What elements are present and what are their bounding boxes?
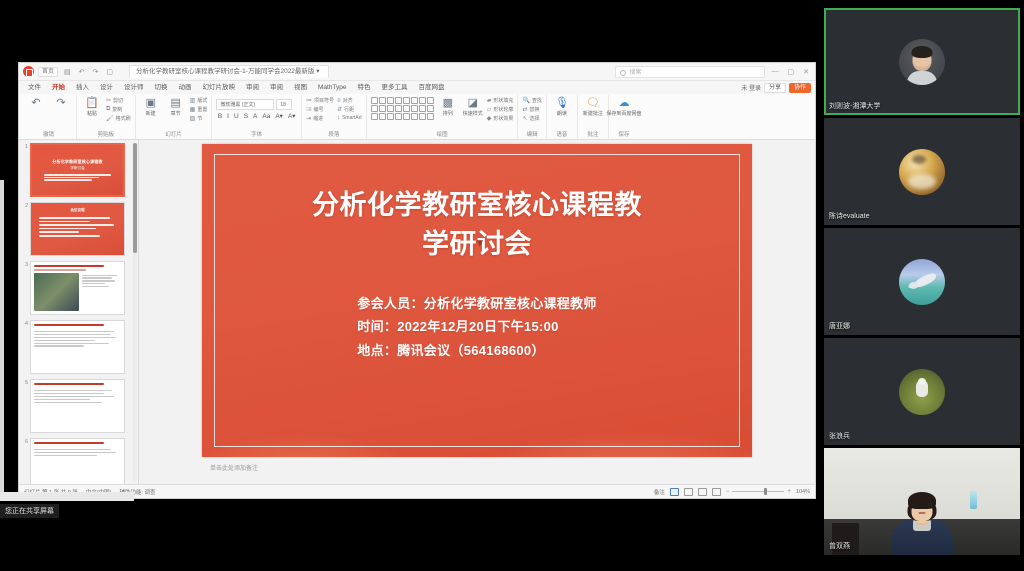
indent-button[interactable]: ⇥缩进 <box>306 115 334 122</box>
ribbon-group-voice: 🎙 朗读 语音 <box>547 95 578 139</box>
title-bar-right: 搜索 — ▢ ✕ <box>615 66 812 78</box>
undo-icon[interactable]: ↶ <box>77 68 87 76</box>
video-bottle-object <box>970 491 977 509</box>
view-slideshow-icon[interactable] <box>712 488 721 496</box>
left-window-edge <box>0 180 4 500</box>
tab-features[interactable]: 特色 <box>353 81 376 94</box>
participant-tile-4[interactable]: 张浪兵 <box>824 338 1020 445</box>
ribbon-group-slides: ▣ 新建 ▤ 章节 ▥版式 ▦重置 ▧节 幻灯片 <box>136 95 213 139</box>
new-slide-button[interactable]: ▣ 新建 <box>140 97 162 117</box>
text-shadow-button[interactable]: A <box>252 113 259 120</box>
cloud-icon: ☁ <box>618 97 629 110</box>
thumbnail-scrollbar[interactable] <box>133 143 137 481</box>
thumbnail-number: 6 <box>21 438 28 445</box>
redo-icon[interactable]: ↷ <box>91 68 101 76</box>
thumb1-title-line2: 学研讨会 <box>70 166 84 171</box>
slide-title-line1: 分析化学教研室核心课程教 <box>312 186 642 225</box>
ribbon-group-comment: 🗨 新建批注 批注 <box>578 95 609 139</box>
field-sheep-avatar <box>899 369 945 415</box>
slide-thumbnail-4[interactable] <box>30 320 125 374</box>
slides-small-buttons: ▥版式 ▦重置 ▧节 <box>190 97 208 122</box>
ribbon-group-label-editing: 编辑 <box>527 131 538 139</box>
avatar-shoulders <box>907 71 937 85</box>
tab-more-tools[interactable]: 更多工具 <box>377 81 413 94</box>
wps-logo-icon <box>23 66 34 77</box>
thumbnail-row-5[interactable]: 5 <box>21 379 136 433</box>
section-split-button[interactable]: ▧节 <box>190 115 208 122</box>
work-area: 1 分析化学教研室核心课程教 学研讨会 <box>19 140 815 484</box>
comment-icon: 🗨 <box>586 97 600 110</box>
ribbon-group-paragraph: ≔项目符号 ⁝≡编号 ⇥缩进 ≡对齐 ⇵行距 ↕SmartArt 段落 <box>302 95 367 139</box>
thumb6-header-bar <box>34 442 104 444</box>
slide-content: 分析化学教研室核心课程教 学研讨会 参会人员：分析化学教研室核心课程教师 时间：… <box>202 144 752 457</box>
participant-tile-2[interactable]: 陈诗evaluate <box>824 118 1020 225</box>
ribbon-group-label-font: 字体 <box>251 131 262 139</box>
notes-pane[interactable]: 单击此处添加备注 <box>202 457 752 477</box>
video-person <box>890 495 954 555</box>
thumbnail-scrollbar-thumb[interactable] <box>133 143 137 253</box>
share-button[interactable]: 分享 <box>764 83 786 93</box>
mouse-cursor <box>477 240 482 247</box>
thumb1-body-lines <box>44 174 110 181</box>
italic-button[interactable]: I <box>226 113 231 120</box>
slide-thumbnail-1[interactable]: 分析化学教研室核心课程教 学研讨会 <box>30 143 125 197</box>
ribbon-group-editing: 🔍查找 ⇄替换 ↖选择 编辑 <box>518 95 547 139</box>
arrange-button[interactable]: ▩排列 <box>437 97 459 117</box>
search-input[interactable]: 搜索 <box>615 66 765 78</box>
highlight-color-button[interactable]: A▾ <box>286 112 297 120</box>
format-painter-button[interactable]: 🖌格式刷 <box>106 115 131 122</box>
title-bar: 首页 ▤ ↶ ↷ ▢ 分析化学教研室核心课程教学研讨会-1-万能同学会2022最… <box>19 63 815 81</box>
editing-buttons: 🔍查找 ⇄替换 ↖选择 <box>522 97 542 122</box>
find-button[interactable]: 🔍查找 <box>522 97 542 104</box>
shape-fill-button[interactable]: ▰形状填充 <box>487 97 514 104</box>
microphone-icon: 🎙 <box>555 97 569 110</box>
copy-button[interactable]: ⧉复制 <box>106 106 131 113</box>
replace-button[interactable]: ⇄替换 <box>522 106 542 113</box>
minimize-icon[interactable]: — <box>770 68 781 75</box>
redo-button[interactable]: ↷ <box>50 97 72 110</box>
clipboard-small-buttons: ✂剪切 ⧉复制 🖌格式刷 <box>106 97 131 122</box>
thumbnail-row-6[interactable]: 6 <box>21 438 136 484</box>
account-label[interactable]: 未 登录 <box>741 83 761 92</box>
tab-transitions[interactable]: 切换 <box>150 81 173 94</box>
home-button[interactable]: 首页 <box>38 67 58 77</box>
participant-tile-1[interactable]: 刘则波-湘潭大学 <box>824 8 1020 115</box>
thumbnail-row-4[interactable]: 4 <box>21 320 136 374</box>
shape-effects-button[interactable]: ◆形状效果 <box>487 115 514 122</box>
document-tab[interactable]: 分析化学教研室核心课程教学研讨会-1-万能同学会2022最新版 ▾ <box>129 65 328 78</box>
tab-home[interactable]: 开始 <box>47 81 70 95</box>
new-tab-icon[interactable]: ▢ <box>104 68 115 76</box>
strikethrough-button[interactable]: S <box>242 113 249 120</box>
ribbon-group-label-drawing: 绘图 <box>437 131 448 139</box>
paragraph-buttons: ≔项目符号 ⁝≡编号 ⇥缩进 <box>306 97 334 122</box>
tab-slideshow[interactable]: 幻灯片放映 <box>198 81 241 94</box>
participant-name-1: 刘则波-湘潭大学 <box>829 101 880 111</box>
ribbon-tabs-right: 未 登录 分享 协作 <box>741 83 811 93</box>
underline-button[interactable]: U <box>232 113 240 120</box>
change-case-button[interactable]: Aa <box>261 113 272 120</box>
shape-outline-button[interactable]: ▱形状轮廓 <box>487 106 514 113</box>
status-bar: 幻灯片 第 1 张 共 9 张 中文(中国) 辅助功能: 调查 备注 − + 1… <box>19 484 815 498</box>
thumb3-header-bar <box>34 265 104 267</box>
select-button[interactable]: ↖选择 <box>522 115 542 122</box>
tab-designer[interactable]: 设计师 <box>119 81 149 94</box>
font-color-button[interactable]: A▾ <box>274 112 285 120</box>
view-normal-icon[interactable] <box>670 488 679 496</box>
tab-review[interactable]: 审阅 <box>241 81 264 94</box>
participant-name-2: 陈诗evaluate <box>829 211 869 221</box>
line-spacing-button[interactable]: ⇵行距 <box>337 106 362 113</box>
slide-body-time: 时间：2022年12月20日下午15:00 <box>357 317 558 337</box>
participant-name-4: 张浪兵 <box>829 431 850 441</box>
slide-canvas-pane: 分析化学教研室核心课程教 学研讨会 参会人员：分析化学教研室核心课程教师 时间：… <box>139 140 815 484</box>
drawing-small-buttons: ▰形状填充 ▱形状轮廓 ◆形状效果 <box>487 97 514 122</box>
ribbon-group-label-paragraph: 段落 <box>328 131 339 139</box>
slide-body-text[interactable]: 参会人员：分析化学教研室核心课程教师 时间：2022年12月20日下午15:00… <box>357 294 596 360</box>
thumbnail-row-2[interactable]: 2 会议议程 <box>21 202 136 256</box>
notes-placeholder: 单击此处添加备注 <box>210 463 258 472</box>
screen-root: 首页 ▤ ↶ ↷ ▢ 分析化学教研室核心课程教学研讨会-1-万能同学会2022最… <box>0 0 1024 571</box>
wps-presentation-window: 首页 ▤ ↶ ↷ ▢ 分析化学教研室核心课程教学研讨会-1-万能同学会2022最… <box>18 62 816 499</box>
ribbon-group-label-save: 保存 <box>618 131 629 139</box>
ribbon-group-font: 微软雅黑 (正文) 18 B I U S A Aa A▾ A▾ <box>212 95 302 139</box>
layout-button[interactable]: ▥版式 <box>190 97 208 104</box>
thumb3-body <box>34 273 121 312</box>
ribbon-tab-strip: 文件 开始 插入 设计 设计师 切换 动画 幻灯片放映 审阅 审阅 视图 Mat… <box>19 81 815 94</box>
paste-icon: 📋 <box>85 97 99 110</box>
tab-animations[interactable]: 动画 <box>174 81 197 94</box>
thumbnail-number: 2 <box>21 202 28 209</box>
status-bar-right: 备注 − + 104% <box>654 488 810 496</box>
smartart-button[interactable]: ↕SmartArt <box>337 115 362 121</box>
ribbon-group-label-voice: 语音 <box>556 131 567 139</box>
ribbon-body: ↶ ↷ 撤销 📋 粘贴 ✂剪切 ⧉复制 🖌格式刷 剪 <box>19 94 815 140</box>
paragraph-buttons-2: ≡对齐 ⇵行距 ↕SmartArt <box>337 97 362 121</box>
ribbon-group-label-slides: 幻灯片 <box>165 131 182 139</box>
tab-mathtype[interactable]: MathType <box>313 81 352 94</box>
thumb2-bullets <box>39 217 116 237</box>
tab-design[interactable]: 设计 <box>95 81 118 94</box>
slide-thumbnail-6[interactable] <box>30 438 125 484</box>
slide-body-attendees: 参会人员：分析化学教研室核心课程教师 <box>357 294 596 314</box>
screen-share-banner: 您正在共享屏幕 <box>0 504 59 518</box>
thumbnail-row-1[interactable]: 1 分析化学教研室核心课程教 学研讨会 <box>21 143 136 197</box>
thumbnail-number: 1 <box>21 143 28 150</box>
ribbon-group-clipboard: 📋 粘贴 ✂剪切 ⧉复制 🖌格式刷 剪贴板 <box>77 95 136 139</box>
thumb5-header-bar <box>34 383 104 385</box>
section-button[interactable]: ▤ 章节 <box>165 97 187 117</box>
view-slide-sorter-icon[interactable] <box>684 488 693 496</box>
thumb3-subheader-bar <box>34 269 86 271</box>
new-comment-button[interactable]: 🗨 新建批注 <box>582 97 604 117</box>
participant-name-5: 曾双燕 <box>829 541 850 551</box>
save-to-baidu-button[interactable]: ☁ 保存到百度网盘 <box>613 97 635 117</box>
dolphin-avatar <box>899 259 945 305</box>
thumb6-text-column <box>34 446 121 484</box>
font-controls: 微软雅黑 (正文) 18 B I U S A Aa A▾ A▾ <box>216 97 297 120</box>
zoom-track[interactable] <box>732 491 784 492</box>
thumb3-text-column <box>82 273 121 312</box>
notes-toggle[interactable]: 备注 <box>654 488 665 496</box>
view-reading-icon[interactable] <box>698 488 707 496</box>
slide-body-location: 地点：腾讯会议（564168600） <box>357 341 544 361</box>
ribbon-group-label-undo: 撤销 <box>43 131 54 139</box>
ribbon-group-drawing: ▩排列 ◪快速样式 ▰形状填充 ▱形状轮廓 ◆形状效果 绘图 <box>367 95 519 139</box>
zoom-slider[interactable]: − + <box>726 489 791 495</box>
zoom-knob[interactable] <box>764 488 767 495</box>
cut-button[interactable]: ✂剪切 <box>106 97 131 104</box>
section-icon: ▤ <box>170 97 180 110</box>
thumbnail-number: 3 <box>21 261 28 268</box>
close-icon[interactable]: ✕ <box>801 68 811 76</box>
ribbon-group-undo: ↶ ↷ 撤销 <box>21 95 77 139</box>
slide-thumbnail-3[interactable] <box>30 261 125 315</box>
slide-title[interactable]: 分析化学教研室核心课程教 学研讨会 <box>312 186 642 264</box>
tab-review-2[interactable]: 审阅 <box>265 81 288 94</box>
bullets-button[interactable]: ≔项目符号 <box>306 97 334 104</box>
thumbnail-number: 4 <box>21 320 28 327</box>
thumb1-title-line1: 分析化学教研室核心课程教 <box>52 159 102 165</box>
collaborate-button[interactable]: 协作 <box>789 83 811 93</box>
save-icon[interactable]: ▤ <box>62 68 73 76</box>
align-button[interactable]: ≡对齐 <box>337 97 362 104</box>
thumb4-header-bar <box>34 324 104 326</box>
moon-avatar <box>899 149 945 195</box>
thumbnail-number: 5 <box>21 379 28 386</box>
thumbnail-row-3[interactable]: 3 <box>21 261 136 315</box>
ribbon-group-label-comment: 批注 <box>587 131 598 139</box>
numbering-button[interactable]: ⁝≡编号 <box>306 106 334 113</box>
thumb2-heading: 会议议程 <box>70 208 84 213</box>
paste-button[interactable]: 📋 粘贴 <box>81 97 103 117</box>
ribbon-group-label-clipboard: 剪贴板 <box>98 131 115 139</box>
thumb3-photo <box>34 273 79 312</box>
participant-rail: 刘则波-湘潭大学 陈诗evaluate 唐亚娜 张浪兵 <box>820 0 1024 571</box>
zoom-in-button[interactable]: + <box>787 489 791 495</box>
font-name-input[interactable]: 微软雅黑 (正文) <box>216 99 274 110</box>
quick-styles-button[interactable]: ◪快速样式 <box>462 97 484 117</box>
new-slide-icon: ▣ <box>145 97 155 110</box>
undo-button[interactable]: ↶ <box>25 97 47 110</box>
read-aloud-button[interactable]: 🎙 朗读 <box>551 97 573 117</box>
share-toolbar-strip <box>0 492 134 501</box>
thumb4-text-column <box>34 328 121 370</box>
reset-button[interactable]: ▦重置 <box>190 106 208 113</box>
zoom-out-button[interactable]: − <box>726 489 730 495</box>
shape-gallery[interactable] <box>371 97 434 120</box>
tab-baidu-disk[interactable]: 百度网盘 <box>414 81 450 94</box>
current-slide[interactable]: 分析化学教研室核心课程教 学研讨会 参会人员：分析化学教研室核心课程教师 时间：… <box>202 144 752 457</box>
person-photo-avatar <box>899 39 945 85</box>
slide-thumbnail-2[interactable]: 会议议程 <box>30 202 125 256</box>
slide-thumbnail-pane[interactable]: 1 分析化学教研室核心课程教 学研讨会 <box>19 140 139 484</box>
maximize-icon[interactable]: ▢ <box>786 68 797 76</box>
font-size-input[interactable]: 18 <box>276 99 292 110</box>
zoom-percentage[interactable]: 104% <box>796 489 810 495</box>
tab-insert[interactable]: 插入 <box>71 81 94 94</box>
participant-tile-5[interactable]: 曾双燕 <box>824 448 1020 555</box>
thumb5-text-column <box>34 387 121 429</box>
participant-name-3: 唐亚娜 <box>829 321 850 331</box>
tab-view[interactable]: 视图 <box>289 81 312 94</box>
participant-tile-3[interactable]: 唐亚娜 <box>824 228 1020 335</box>
bold-button[interactable]: B <box>216 113 223 120</box>
tab-file[interactable]: 文件 <box>23 81 46 94</box>
slide-thumbnail-5[interactable] <box>30 379 125 433</box>
ribbon-group-save-cloud: ☁ 保存到百度网盘 保存 <box>609 95 639 139</box>
